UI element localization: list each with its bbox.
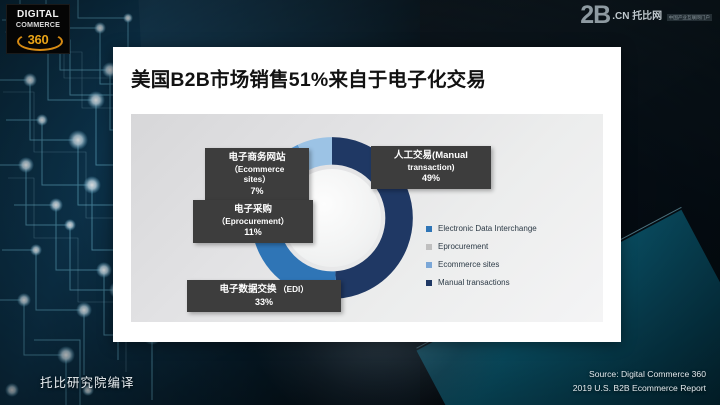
legend-item: Electronic Data Interchange [426,224,537,233]
legend-item: Eprocurement [426,242,537,251]
legend-label: Manual transactions [438,278,510,287]
logo-2b-text-wrap: .CN 托比网 中国产业互联网门户 [612,6,712,24]
callout-eprocurement-zh: 电子采购 [199,204,307,217]
source-citation: Source: Digital Commerce 360 2019 U.S. B… [573,368,706,395]
callout-ecommerce-percent: 7% [211,186,303,198]
legend-item: Ecommerce sites [426,260,537,269]
callout-ecommerce-en2: sites） [211,175,303,186]
callout-eprocurement: 电子采购 （Eprocurement） 11% [193,200,313,243]
slide-card: 美国B2B市场销售51%来自于电子化交易 电子商务网站 [113,47,621,342]
callout-manual-en: transaction) [377,163,485,174]
translator-credit: 托比研究院编译 [40,372,135,391]
legend-swatch-icon [426,226,432,232]
legend-swatch-icon [426,244,432,250]
tobi-2b-logo: 2B .CN 托比网 中国产业互联网门户 [580,4,712,28]
callout-eprocurement-en: （Eprocurement） [199,217,307,228]
callout-manual-percent: 49% [377,173,485,185]
callout-ecommerce-zh: 电子商务网站 [211,152,303,165]
legend-swatch-icon [426,280,432,286]
callout-edi-percent: 33% [193,297,335,309]
logo-line-digital: DIGITAL [17,10,59,20]
digital-commerce-360-logo: DIGITAL COMMERCE 360 [6,4,70,54]
source-line-2: 2019 U.S. B2B Ecommerce Report [573,382,706,395]
logo-2b-number: 2B [580,4,610,28]
legend-label: Eprocurement [438,242,488,251]
callout-edi-row: 电子数据交换 （EDI） [193,284,335,297]
callout-manual-zh: 人工交易(Manual [377,150,485,163]
logo-line-360: 360 [28,33,49,46]
logo-2b-subtitle: 中国产业互联网门户 [667,14,712,21]
callout-edi-zh: 电子数据交换 [219,284,276,297]
slide-root: DIGITAL COMMERCE 360 2B .CN 托比网 中国产业互联网门… [0,0,720,405]
callout-ecommerce-sites: 电子商务网站 （Ecommerce sites） 7% [205,148,309,202]
logo-360-wrap: 360 [15,31,61,48]
chart-legend: Electronic Data Interchange Eprocurement… [426,224,537,296]
legend-swatch-icon [426,262,432,268]
logo-2b-domain: .CN 托比网 [612,11,662,22]
legend-label: Electronic Data Interchange [438,224,537,233]
callout-ecommerce-en1: （Ecommerce [211,165,303,176]
legend-item: Manual transactions [426,278,537,287]
callout-manual-transactions: 人工交易(Manual transaction) 49% [371,146,491,189]
legend-label: Ecommerce sites [438,260,499,269]
callout-edi-en: （EDI） [278,285,308,296]
callout-edi: 电子数据交换 （EDI） 33% [187,280,341,312]
callout-eprocurement-percent: 11% [199,227,307,239]
source-line-1: Source: Digital Commerce 360 [573,368,706,381]
chart-panel: 电子商务网站 （Ecommerce sites） 7% 电子采购 （Eprocu… [131,114,603,322]
logo-line-commerce: COMMERCE [16,21,60,28]
page-title: 美国B2B市场销售51%来自于电子化交易 [131,63,486,92]
